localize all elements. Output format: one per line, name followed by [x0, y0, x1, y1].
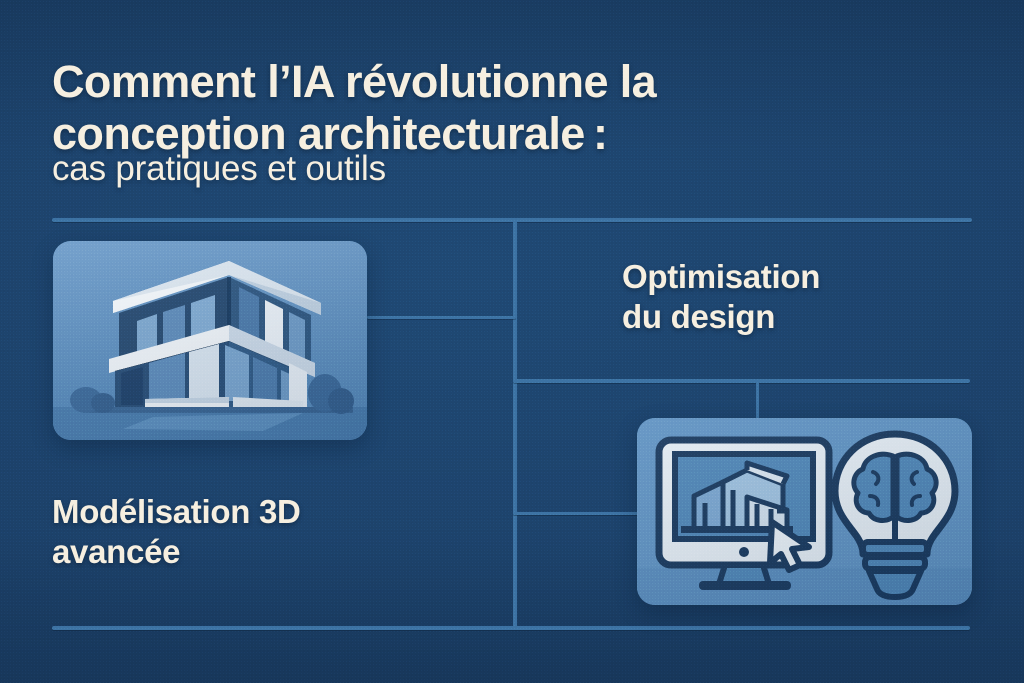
- label-modelisation-line-1: Modélisation 3D: [52, 493, 301, 530]
- card-modelisation-3d[interactable]: [53, 241, 367, 440]
- label-modelisation-line-2: avancée: [52, 533, 180, 570]
- top-divider: [52, 218, 972, 222]
- page-title: Comment l’IA révolutionne la conception …: [52, 56, 892, 160]
- label-modelisation-3d: Modélisation 3D avancée: [52, 492, 472, 572]
- label-optimisation-design: Optimisation du design: [622, 257, 962, 337]
- card-optimisation-design[interactable]: [637, 418, 972, 605]
- monitor-group: [659, 440, 829, 590]
- monitor-lightbulb-icon: [637, 418, 972, 605]
- branch-optimisation: [513, 379, 970, 383]
- label-optimisation-line-1: Optimisation: [622, 258, 820, 295]
- modern-house-icon: [53, 241, 367, 440]
- branch-modelisation: [367, 316, 516, 319]
- spine-connector: [513, 218, 517, 630]
- drop-tools-card: [756, 379, 759, 419]
- page-title-line-1: Comment l’IA révolutionne la: [52, 56, 656, 107]
- bottom-divider: [52, 626, 970, 630]
- label-optimisation-line-2: du design: [622, 298, 775, 335]
- page-subtitle: cas pratiques et outils: [52, 148, 386, 190]
- infographic-canvas: Comment l’IA révolutionne la conception …: [0, 0, 1024, 683]
